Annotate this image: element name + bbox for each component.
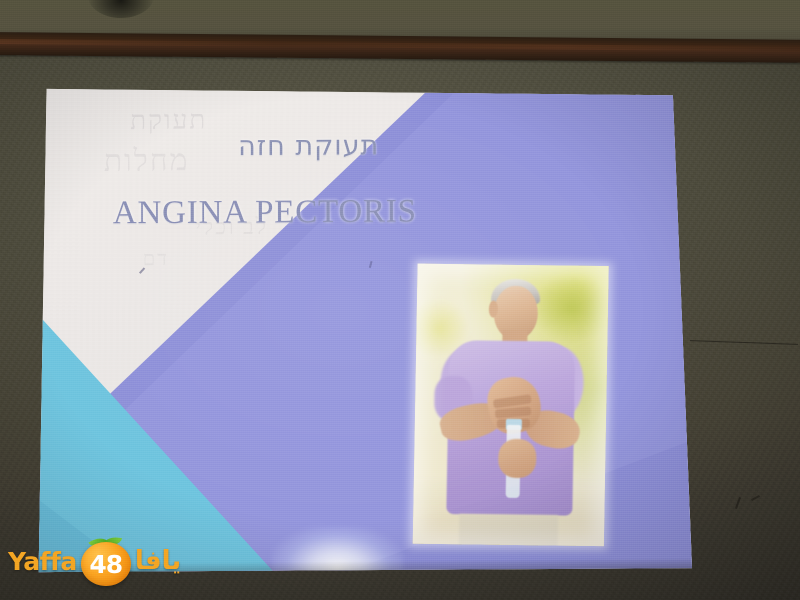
watermark-brand-number: 48 [81,542,131,586]
man-ear [488,301,498,318]
slide-photo-man-chest-pain [412,263,608,546]
slide-title-hebrew: תעוקת חזה [157,130,461,162]
slide-inner: תעוקת מחלות לב וכלי דם תעוקת חזה ANGINA … [36,84,696,576]
slide-title-english: ANGINA PECTORIS [60,193,469,232]
watermark-yaffa48: Yaffa 48 يافا [8,536,181,586]
photo-man-figure [412,263,608,546]
watermark-brand-arabic: يافا [135,546,181,576]
watermark-brand-latin: Yaffa [8,547,77,576]
screenshot-root: תעוקת מחלות לב וכלי דם תעוקת חזה ANGINA … [0,0,800,600]
orange-fruit-icon: 48 [81,536,131,586]
man-trousers [458,513,558,546]
projection-area: תעוקת מחלות לב וכלי דם תעוקת חזה ANGINA … [0,0,800,600]
man-hand-holding-bottle [498,438,537,478]
presentation-slide: תעוקת מחלות לב וכלי דם תעוקת חזה ANGINA … [36,84,696,576]
